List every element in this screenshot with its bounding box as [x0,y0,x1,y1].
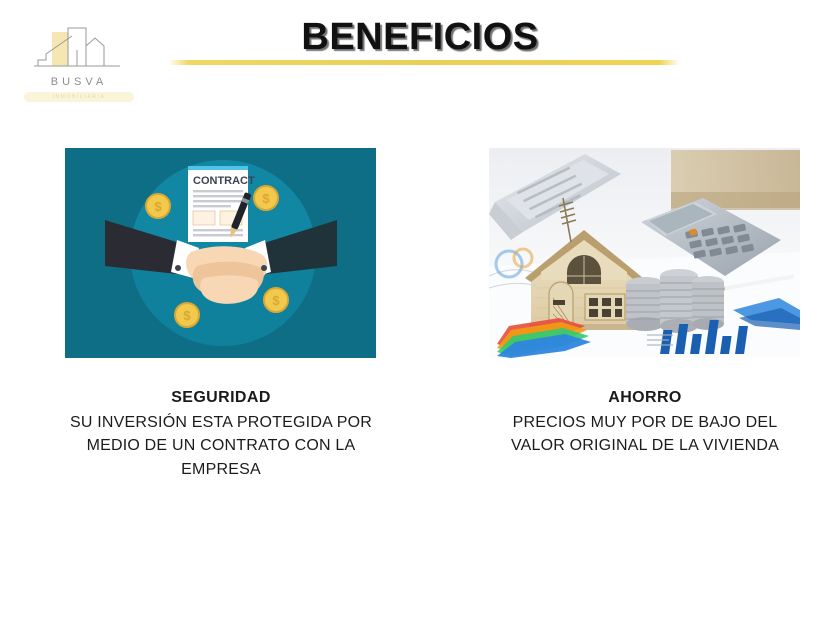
benefit-body-line: SU INVERSIÓN ESTA PROTEGIDA POR [41,411,401,434]
benefit-column-seguridad: CONTRACT [65,148,376,358]
handshake-contract-illustration: CONTRACT [65,148,376,358]
benefit-caption-seguridad: SEGURIDAD SU INVERSIÓN ESTA PROTEGIDA PO… [41,386,401,481]
benefit-body-line: MEDIO DE UN CONTRATO CON LA [41,434,401,457]
benefit-title-ahorro: AHORRO [465,386,825,409]
benefit-caption-ahorro: AHORRO PRECIOS MUY POR DE BAJO DEL VALOR… [465,386,825,458]
benefit-body-line: EMPRESA [41,458,401,481]
logo-wordmark: BUSVA [24,76,134,88]
svg-text:CONTRACT: CONTRACT [193,175,255,187]
logo-tagline: INMOBILIARIA [24,92,134,102]
slide-title: BENEFICIOS [0,16,840,59]
benefit-title-seguridad: SEGURIDAD [41,386,401,409]
title-underline-rule [168,60,680,65]
model-house-coins-calculator-photo [489,148,800,358]
svg-text:$: $ [154,199,162,214]
svg-text:$: $ [183,308,191,323]
svg-text:$: $ [272,293,280,308]
svg-text:$: $ [262,191,270,206]
benefit-column-ahorro: AHORRO PRECIOS MUY POR DE BAJO DEL VALOR… [489,148,800,358]
benefit-body-line: VALOR ORIGINAL DE LA VIVIENDA [465,434,825,457]
benefit-body-line: PRECIOS MUY POR DE BAJO DEL [465,411,825,434]
